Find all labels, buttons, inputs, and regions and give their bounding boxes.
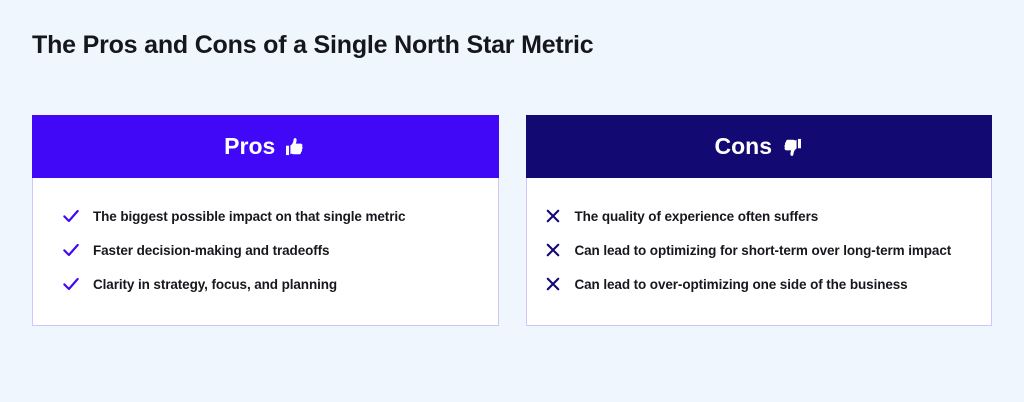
pros-card-header: Pros xyxy=(32,115,499,178)
check-icon xyxy=(61,206,81,226)
page-title: The Pros and Cons of a Single North Star… xyxy=(32,31,594,60)
list-item-label: The biggest possible impact on that sing… xyxy=(93,209,405,224)
list-item: Clarity in strategy, focus, and planning xyxy=(41,267,498,301)
comparison-graphic: The Pros and Cons of a Single North Star… xyxy=(0,0,1024,402)
list-item-label: The quality of experience often suffers xyxy=(575,209,819,224)
check-icon xyxy=(61,274,81,294)
pros-card: Pros The biggest possible impact on th xyxy=(32,115,499,326)
cards-container: Pros The biggest possible impact on th xyxy=(32,115,992,326)
cons-header-label: Cons xyxy=(715,133,773,160)
thumbs-up-icon xyxy=(284,136,306,158)
pros-header-label: Pros xyxy=(224,133,275,160)
x-icon xyxy=(543,240,563,260)
thumbs-down-icon xyxy=(781,136,803,158)
list-item: Faster decision-making and tradeoffs xyxy=(41,233,498,267)
list-item-label: Clarity in strategy, focus, and planning xyxy=(93,277,337,292)
list-item-label: Can lead to optimizing for short-term ov… xyxy=(575,243,952,258)
cons-list: The quality of experience often suffers … xyxy=(527,177,992,325)
list-item-label: Can lead to over-optimizing one side of … xyxy=(575,277,908,292)
list-item-label: Faster decision-making and tradeoffs xyxy=(93,243,329,258)
list-item: Can lead to over-optimizing one side of … xyxy=(527,267,992,301)
list-item: The quality of experience often suffers xyxy=(527,199,992,233)
x-icon xyxy=(543,274,563,294)
cons-card-header: Cons xyxy=(526,115,993,178)
list-item: Can lead to optimizing for short-term ov… xyxy=(527,233,992,267)
check-icon xyxy=(61,240,81,260)
cons-card: Cons The quality of exp xyxy=(526,115,993,326)
x-icon xyxy=(543,206,563,226)
pros-list: The biggest possible impact on that sing… xyxy=(33,177,498,325)
list-item: The biggest possible impact on that sing… xyxy=(41,199,498,233)
